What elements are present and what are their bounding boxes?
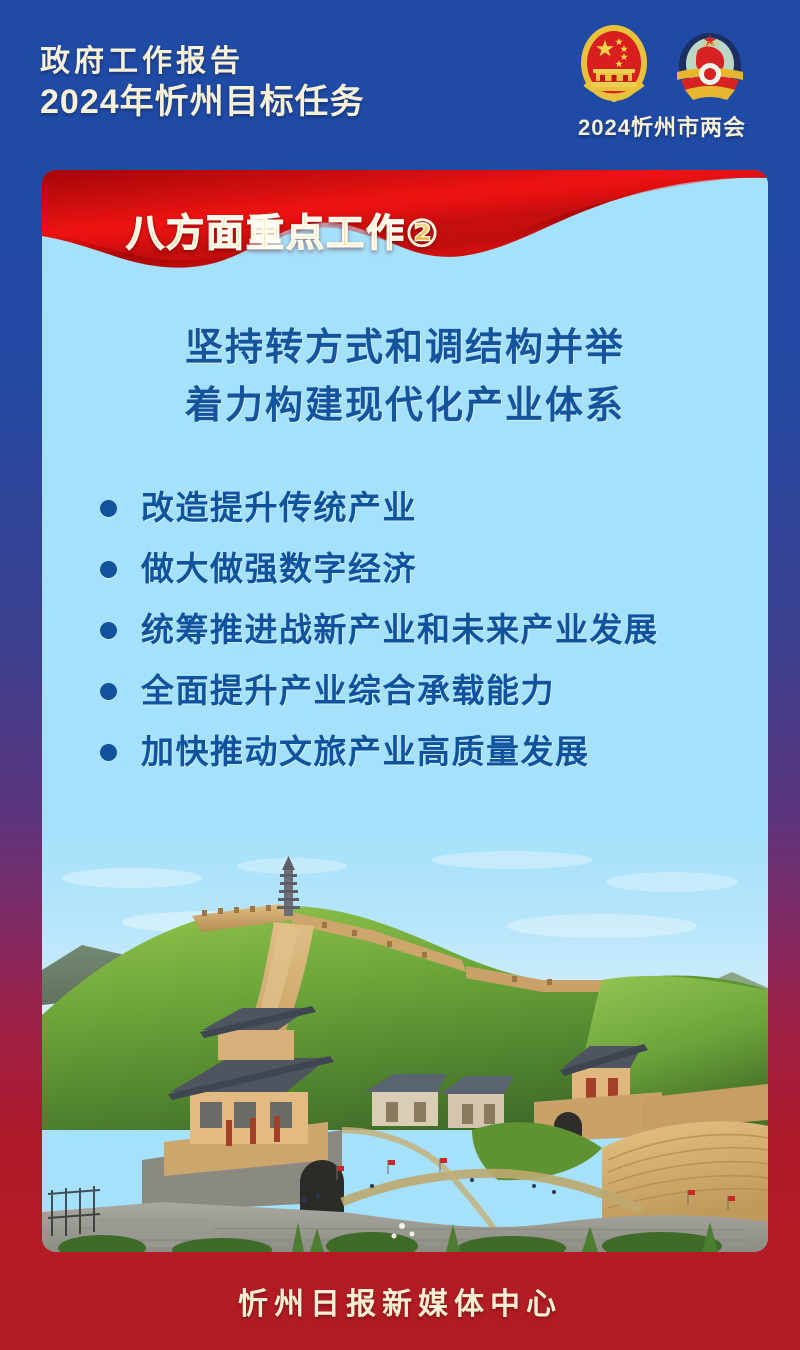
svg-text:1949: 1949 [702, 41, 718, 48]
headline-block: 坚持转方式和调结构并举 着力构建现代化产业体系 [42, 320, 768, 436]
header-title-block: 政府工作报告 2024年忻州目标任务 [40, 44, 365, 123]
banner-title: 八方面重点工作② [126, 202, 440, 257]
list-item-label: 做大做强数字经济 [141, 551, 417, 587]
emblem-caption: 2024忻州市两会 [552, 110, 772, 142]
list-item-label: 加快推动文旅产业高质量发展 [141, 734, 590, 770]
great-wall-yanmenguan-photo [42, 830, 768, 1252]
emblem-row: 1949 [552, 22, 772, 108]
list-item: 全面提升产业综合承载能力 [100, 661, 760, 722]
footer-credit: 忻州日报新媒体中心 [238, 1279, 562, 1323]
headline-line2: 着力构建现代化产业体系 [42, 378, 768, 436]
content-card: 八方面重点工作② 坚持转方式和调结构并举 着力构建现代化产业体系 改造提升传统产… [42, 170, 768, 1252]
list-item-label: 改造提升传统产业 [141, 490, 417, 526]
red-wave-banner: 八方面重点工作② [42, 170, 768, 295]
list-item: 加快推动文旅产业高质量发展 [100, 722, 760, 783]
list-item: 改造提升传统产业 [100, 478, 760, 539]
cppcc-emblem-icon: 1949 [671, 22, 749, 108]
header-title-line2: 2024年忻州目标任务 [40, 82, 365, 123]
bullet-dot-icon [100, 500, 117, 517]
bullet-dot-icon [100, 622, 117, 639]
list-item-label: 全面提升产业综合承载能力 [141, 673, 555, 709]
bullet-dot-icon [100, 683, 117, 700]
poster-header: 政府工作报告 2024年忻州目标任务 [0, 0, 800, 170]
header-title-line1: 政府工作报告 [40, 44, 365, 79]
list-item: 统筹推进战新产业和未来产业发展 [100, 600, 760, 661]
list-item-label: 统筹推进战新产业和未来产业发展 [141, 612, 659, 648]
bullet-dot-icon [100, 561, 117, 578]
national-emblem-of-china-icon [575, 22, 653, 108]
poster-root: 政府工作报告 2024年忻州目标任务 [0, 0, 800, 1350]
poster-footer: 忻州日报新媒体中心 [0, 1252, 800, 1350]
list-item: 做大做强数字经济 [100, 539, 760, 600]
emblem-group: 1949 2024忻州市两会 [552, 22, 772, 142]
bullet-dot-icon [100, 744, 117, 761]
headline-line1: 坚持转方式和调结构并举 [42, 320, 768, 378]
key-tasks-list: 改造提升传统产业 做大做强数字经济 统筹推进战新产业和未来产业发展 全面提升产业… [100, 478, 760, 783]
